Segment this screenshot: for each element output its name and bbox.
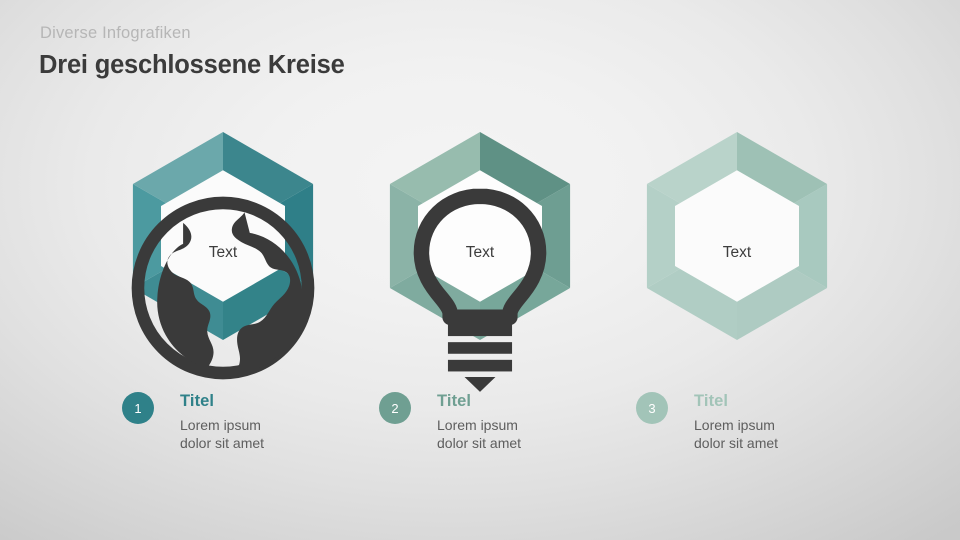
legend-desc-1: Lorem ipsum dolor sit amet — [180, 416, 350, 453]
legend-item-2[interactable]: 2 Titel Lorem ipsum dolor sit amet — [379, 392, 609, 482]
circle-unit-1[interactable]: Text — [118, 131, 328, 341]
legend-badge-3[interactable]: 3 — [636, 392, 668, 424]
legend-title-1: Titel — [180, 391, 350, 412]
legend-body-1: Titel Lorem ipsum dolor sit amet — [180, 391, 350, 453]
legend-badge-1[interactable]: 1 — [122, 392, 154, 424]
legend-item-1[interactable]: 1 Titel Lorem ipsum dolor sit amet — [122, 392, 352, 482]
legend-item-3[interactable]: 3 Titel Lorem ipsum dolor sit amet — [636, 392, 866, 482]
legend-title-3: Titel — [694, 391, 864, 412]
circle-unit-2[interactable]: Text — [375, 131, 585, 341]
legend-body-3: Titel Lorem ipsum dolor sit amet — [694, 391, 864, 453]
circle-1-graphic — [118, 131, 328, 341]
circle-3-graphic — [632, 131, 842, 341]
legend-title-2: Titel — [437, 391, 607, 412]
slide-canvas: Diverse Infografiken Drei geschlossene K… — [0, 0, 960, 540]
legend-desc-3: Lorem ipsum dolor sit amet — [694, 416, 864, 453]
legend-body-2: Titel Lorem ipsum dolor sit amet — [437, 391, 607, 453]
legend-desc-2: Lorem ipsum dolor sit amet — [437, 416, 607, 453]
circle-2-graphic — [375, 131, 585, 341]
legend-badge-2[interactable]: 2 — [379, 392, 411, 424]
circle-unit-3[interactable]: Text — [632, 131, 842, 341]
